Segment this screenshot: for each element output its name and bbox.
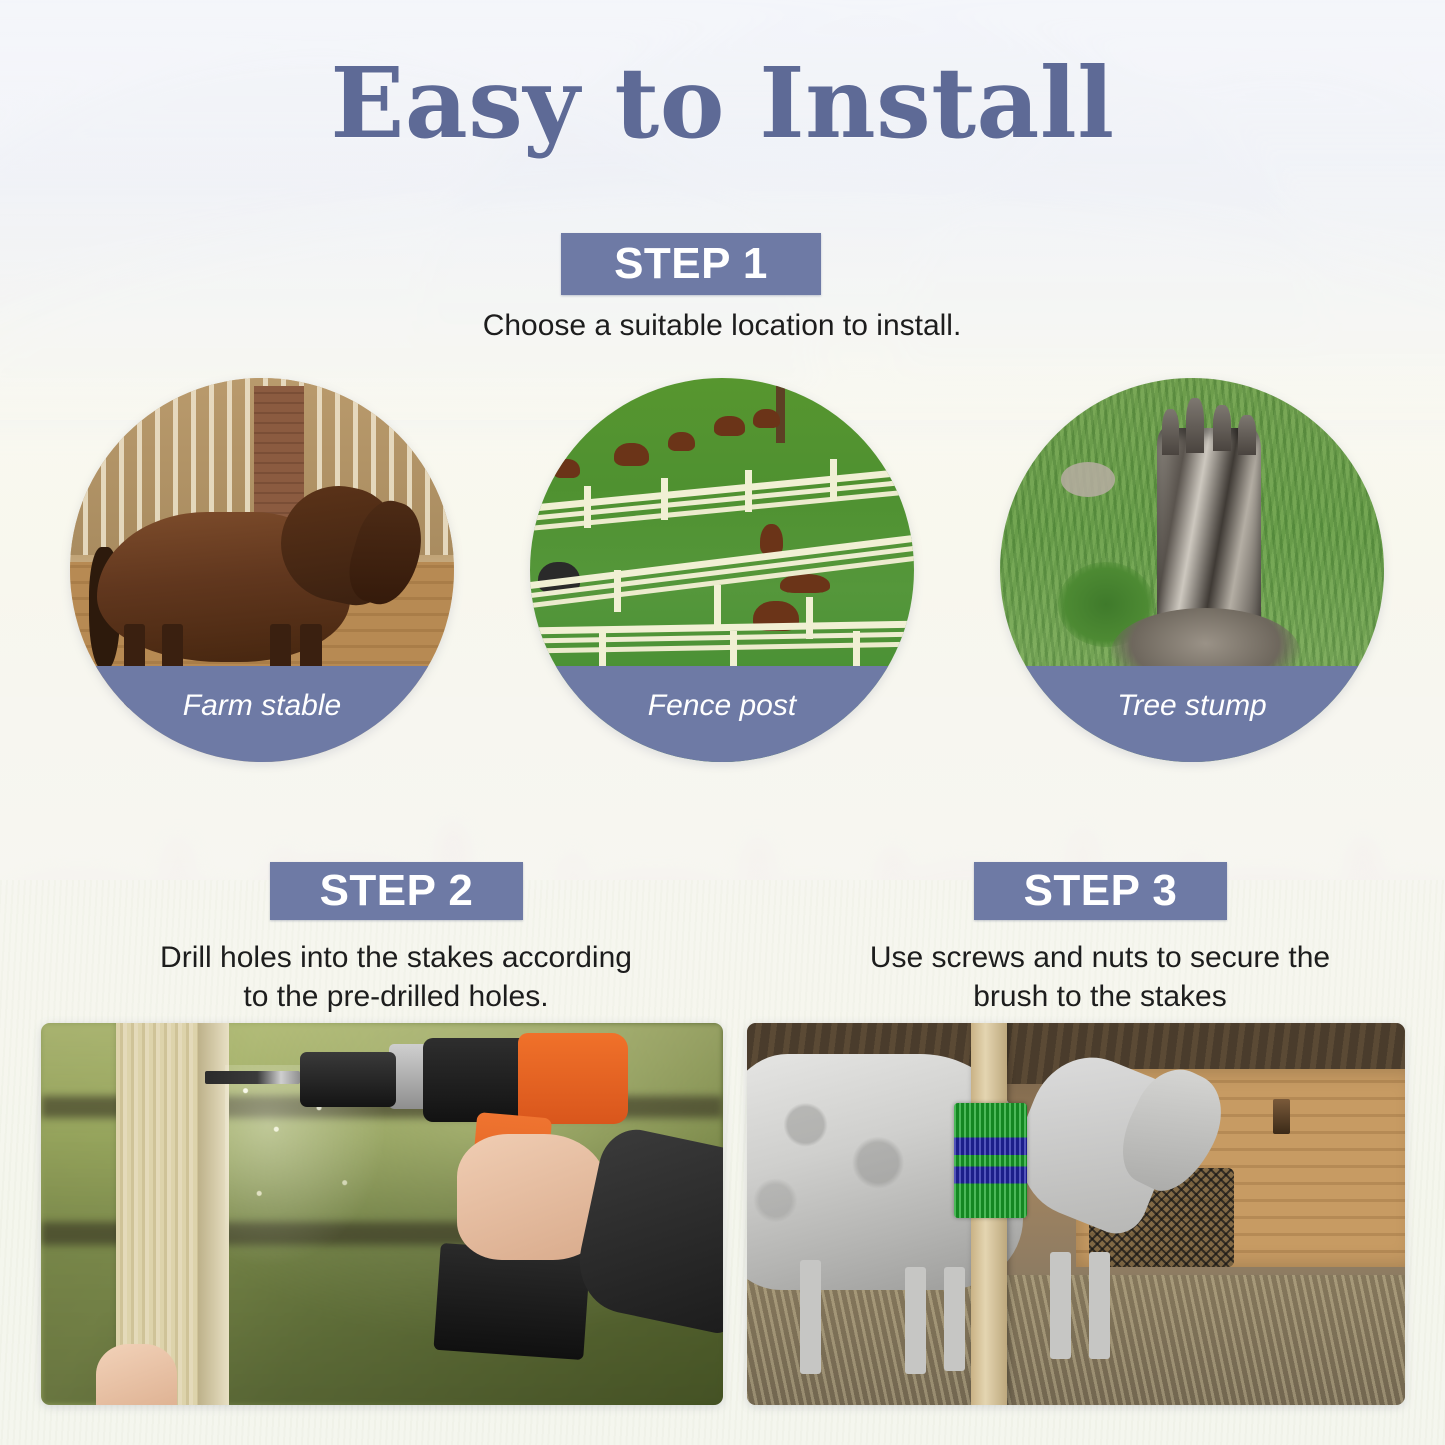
fence-post	[599, 628, 606, 670]
option-label-fence-post: Fence post	[530, 666, 914, 762]
drill-bit	[205, 1071, 300, 1084]
drill-battery	[433, 1243, 590, 1360]
step-2-description-line-2: to the pre-drilled holes.	[96, 977, 696, 1016]
fence-post	[745, 470, 752, 512]
grazing-horse	[614, 443, 649, 466]
step-2-description-line-1: Drill holes into the stakes according	[96, 938, 696, 977]
step-1-badge: STEP 1	[561, 233, 821, 295]
stump-spike	[1213, 405, 1231, 451]
step-3-badge: STEP 3	[974, 862, 1227, 920]
grazing-horse	[714, 416, 745, 435]
barn-floor	[747, 1275, 1405, 1405]
fence-post	[584, 486, 591, 528]
stump-spike	[1238, 415, 1256, 455]
horse-leg	[1089, 1252, 1110, 1359]
poster: Easy to Install STEP 1 Choose a suitable…	[0, 0, 1445, 1445]
horse-leg	[944, 1267, 965, 1370]
horse-leg	[905, 1267, 926, 1374]
fence-post	[806, 597, 813, 639]
step-3-photo	[747, 1023, 1405, 1405]
step-1-description: Choose a suitable location to install.	[322, 306, 1122, 345]
drill-chuck	[300, 1052, 395, 1107]
option-label-farm-stable: Farm stable	[70, 666, 454, 762]
fence-post	[714, 585, 721, 627]
step-2-badge: STEP 2	[270, 862, 523, 920]
option-label-tree-stump: Tree stump	[1000, 666, 1384, 762]
drill-orange-housing	[518, 1033, 627, 1125]
fence-post	[614, 570, 621, 612]
stump-spike	[1186, 398, 1204, 453]
option-card-fence-post: Fence post	[530, 378, 914, 762]
grazing-horse	[668, 432, 695, 451]
ground-rock	[1061, 462, 1115, 497]
grazing-horse	[760, 524, 783, 555]
page-title: Easy to Install	[0, 52, 1445, 155]
fence-post	[661, 478, 668, 520]
stump-spike	[1162, 409, 1180, 455]
content-layer: Easy to Install STEP 1 Choose a suitable…	[0, 0, 1445, 1445]
fence-rail	[530, 531, 914, 593]
step-2-photo	[41, 1023, 723, 1405]
horse-leg	[800, 1260, 821, 1375]
grazing-horse	[553, 459, 580, 478]
fence-post	[830, 459, 837, 501]
horse-leg	[1050, 1252, 1071, 1359]
step-3-description-line-2: brush to the stakes	[800, 977, 1400, 1016]
step-3-description-line-1: Use screws and nuts to secure the	[800, 938, 1400, 977]
grazing-horse	[753, 409, 780, 428]
wall-hook	[1273, 1099, 1290, 1133]
hand-holding-post	[96, 1344, 178, 1405]
option-card-tree-stump: Tree stump	[1000, 378, 1384, 762]
option-card-farm-stable: Farm stable	[70, 378, 454, 762]
horse-scratching-brush	[954, 1103, 1026, 1218]
lying-horse	[780, 574, 830, 593]
pasture-tree	[776, 378, 785, 443]
